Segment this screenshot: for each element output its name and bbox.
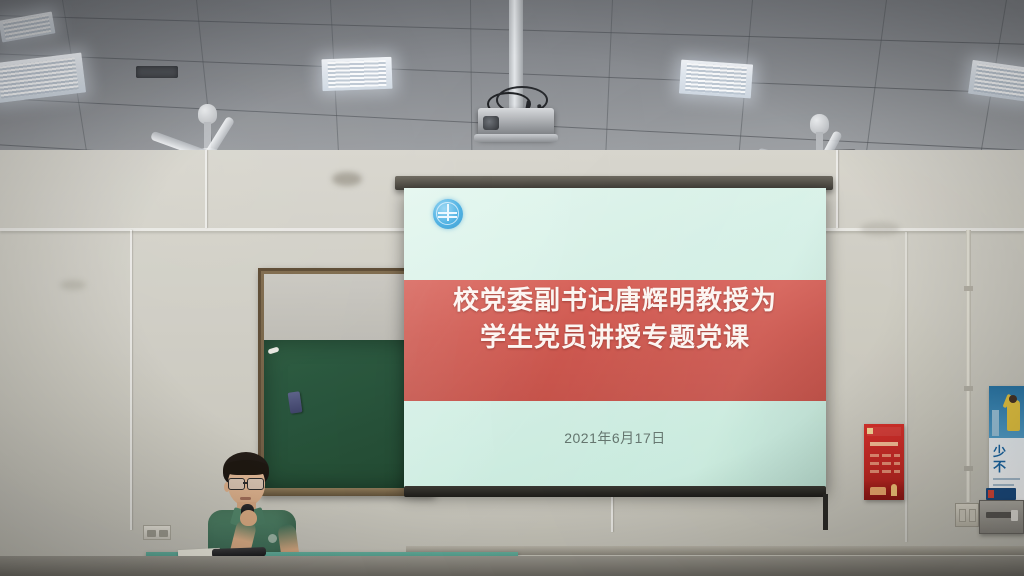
vertical-wall-conduit (966, 230, 971, 502)
pull-down-projection-screen: 校党委副书记唐辉明教授为 学生党员讲授专题党课 2021年6月17日 (404, 188, 826, 490)
ceiling-light (679, 60, 753, 99)
conduit-clip (964, 286, 973, 291)
poster-character-1: 少 (993, 445, 1006, 458)
projector-mount-plate (474, 134, 558, 142)
chalkboard-upper-panel (264, 274, 427, 340)
red-propaganda-poster (864, 424, 904, 500)
eyeglasses (228, 478, 245, 490)
poster-character-2: 不 (993, 460, 1006, 473)
screen-bottom-weight-bar[interactable] (404, 486, 826, 497)
wall-power-outlet[interactable] (143, 525, 171, 540)
ceiling-vent (136, 66, 178, 78)
equipment-label-sticker (986, 488, 1016, 500)
slide-date: 2021年6月17日 (404, 428, 826, 448)
screen-drop-cord[interactable] (823, 494, 828, 530)
floor-band (0, 556, 1024, 576)
hair-fringe (224, 460, 268, 475)
slide-title-line-1: 校党委副书记唐辉明教授为 (404, 283, 826, 320)
ceiling-light (968, 60, 1024, 102)
mouth (240, 497, 251, 500)
classroom-photo-scene: 校党委副书记唐辉明教授为 学生党员讲授专题党课 2021年6月17日 少 (0, 0, 1024, 576)
light-switch-panel[interactable] (955, 503, 979, 527)
blue-campaign-poster: 少 不 (989, 386, 1024, 504)
slide-title-line-2: 学生党员讲授专题党课 (404, 320, 826, 357)
ceiling-light (0, 53, 86, 104)
ceiling-light (321, 57, 392, 91)
conduit-clip (964, 386, 973, 391)
shirt-logo-badge (268, 534, 277, 543)
slide-title: 校党委副书记唐辉明教授为 学生党员讲授专题党课 (404, 283, 826, 357)
eyeglasses (247, 478, 264, 490)
presentation-slide: 校党委副书记唐辉明教授为 学生党员讲授专题党课 2021年6月17日 (404, 188, 826, 490)
hand (240, 510, 257, 526)
conduit-clip (964, 466, 973, 471)
eyeglasses-bridge (243, 482, 248, 484)
university-emblem-logo (433, 199, 463, 229)
projector-lens (483, 116, 499, 130)
metal-equipment-box[interactable] (979, 500, 1024, 534)
